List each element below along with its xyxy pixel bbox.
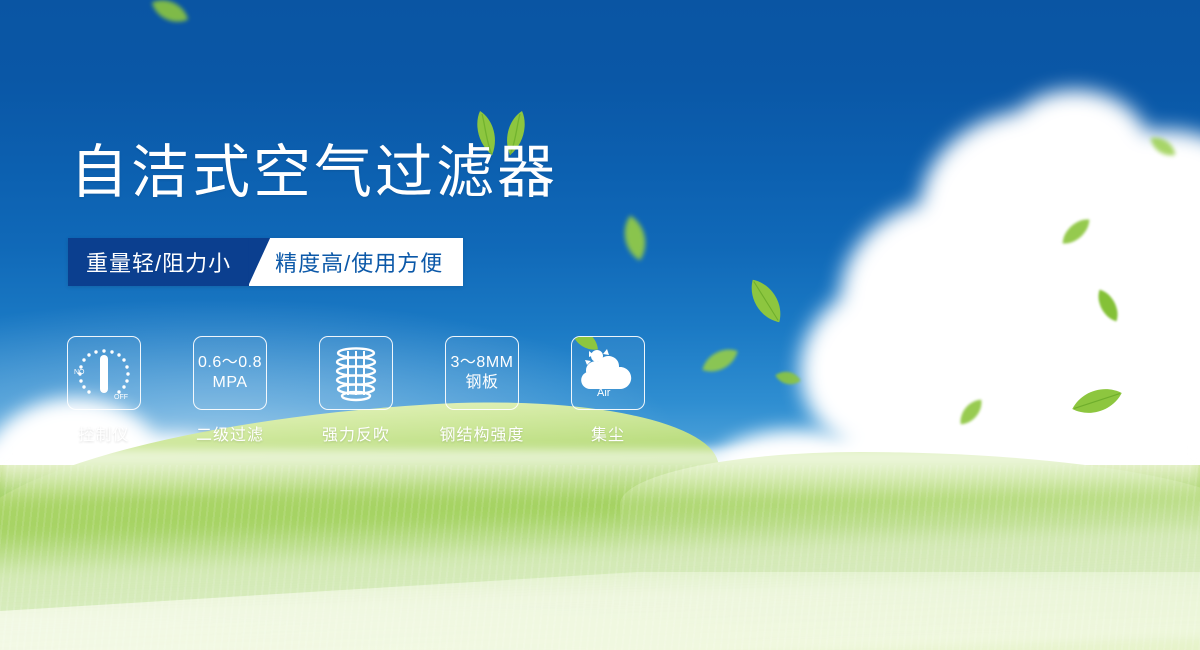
steel-line2: 钢板 — [451, 373, 514, 393]
feature-icon-box: 3～8MM 钢板 — [445, 336, 519, 410]
pressure-line2: MPA — [198, 373, 262, 393]
feature-caption: 集尘 — [591, 421, 625, 445]
gauge-label-off: OFF — [114, 394, 128, 401]
feature-caption: 二级过滤 — [196, 421, 264, 445]
cloud-air-icon: Air — [577, 346, 639, 400]
feature-caption: 控制仪 — [78, 421, 129, 445]
feature-list: NO OFF 控制仪 0.6～0.8 MPA 二级过滤 — [68, 336, 644, 445]
feature-icon-box: 0.6～0.8 MPA — [193, 336, 267, 410]
pressure-text-icon: 0.6～0.8 MPA — [198, 353, 262, 392]
gauge-label-no: NO — [74, 369, 85, 376]
feature-item-blowback[interactable]: 强力反吹 — [320, 336, 392, 445]
subtitle-right: 精度高/使用方便 — [249, 238, 463, 286]
steel-plate-text-icon: 3～8MM 钢板 — [451, 353, 514, 392]
subtitle-bar: 重量轻/阻力小 精度高/使用方便 — [68, 238, 463, 286]
gauge-icon: NO OFF — [72, 343, 136, 403]
feature-item-control[interactable]: NO OFF 控制仪 — [68, 336, 140, 445]
feature-item-dust[interactable]: Air 集尘 — [572, 336, 644, 445]
feature-icon-box — [319, 336, 393, 410]
feature-caption: 钢结构强度 — [440, 421, 525, 445]
subtitle-left: 重量轻/阻力小 — [68, 238, 249, 286]
grass-texture — [0, 465, 1200, 650]
feature-icon-box: NO OFF — [67, 336, 141, 410]
feature-icon-box: Air — [571, 336, 645, 410]
pressure-line1: 0.6～0.8 — [198, 353, 262, 373]
steel-line1: 3～8MM — [451, 353, 514, 373]
feature-item-steel[interactable]: 3～8MM 钢板 钢结构强度 — [446, 336, 518, 445]
cloud-air-label: Air — [597, 387, 611, 399]
page-title: 自洁式空气过滤器 — [70, 144, 558, 202]
product-banner: 自洁式空气过滤器 重量轻/阻力小 精度高/使用方便 — [0, 0, 1200, 650]
filter-cartridge-icon — [327, 343, 385, 403]
feature-caption: 强力反吹 — [322, 421, 390, 445]
feature-item-pressure[interactable]: 0.6～0.8 MPA 二级过滤 — [194, 336, 266, 445]
